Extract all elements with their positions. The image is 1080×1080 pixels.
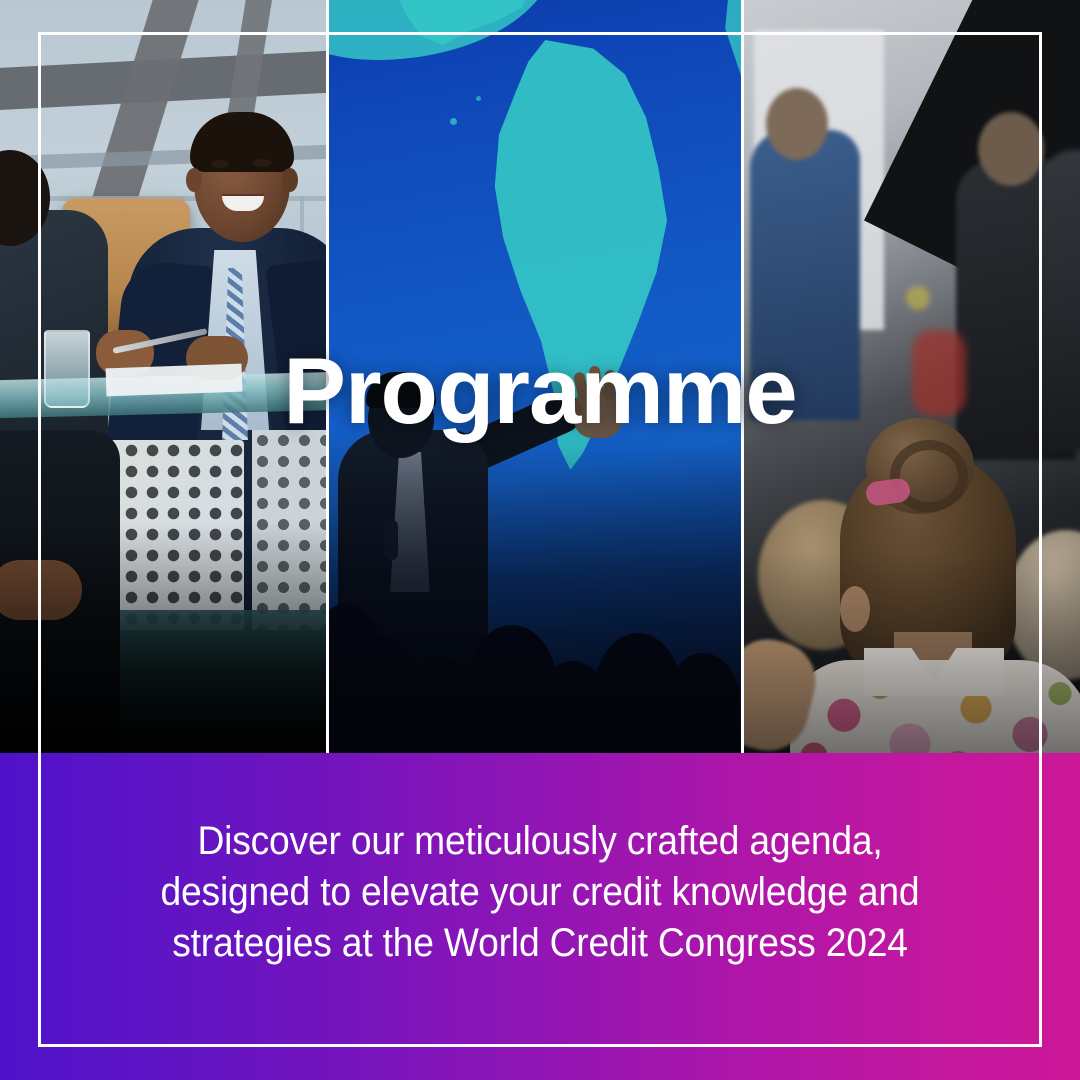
world-map-island	[476, 96, 481, 101]
tagline: Discover our meticulously crafted agenda…	[38, 816, 1042, 969]
tagline-line-3: strategies at the World Credit Congress …	[38, 918, 1042, 969]
blurred-attendee-head	[766, 88, 828, 160]
eye	[211, 160, 229, 168]
blurred-attendee-head	[978, 112, 1044, 186]
ear	[186, 168, 202, 192]
tagline-line-1: Discover our meticulously crafted agenda…	[38, 816, 1042, 867]
world-map-island	[450, 118, 457, 125]
panel-bottom-shadow	[744, 553, 1080, 753]
page-title: Programme	[0, 344, 1080, 438]
panel-bottom-shadow	[326, 433, 744, 753]
tagline-line-2: designed to elevate your credit knowledg…	[38, 867, 1042, 918]
ear	[282, 168, 298, 192]
blurred-drink-glass	[906, 286, 930, 310]
eye	[253, 159, 271, 167]
programme-poster: Programme Discover our meticulously craf…	[0, 0, 1080, 1080]
panel-bottom-shadow	[0, 523, 326, 753]
